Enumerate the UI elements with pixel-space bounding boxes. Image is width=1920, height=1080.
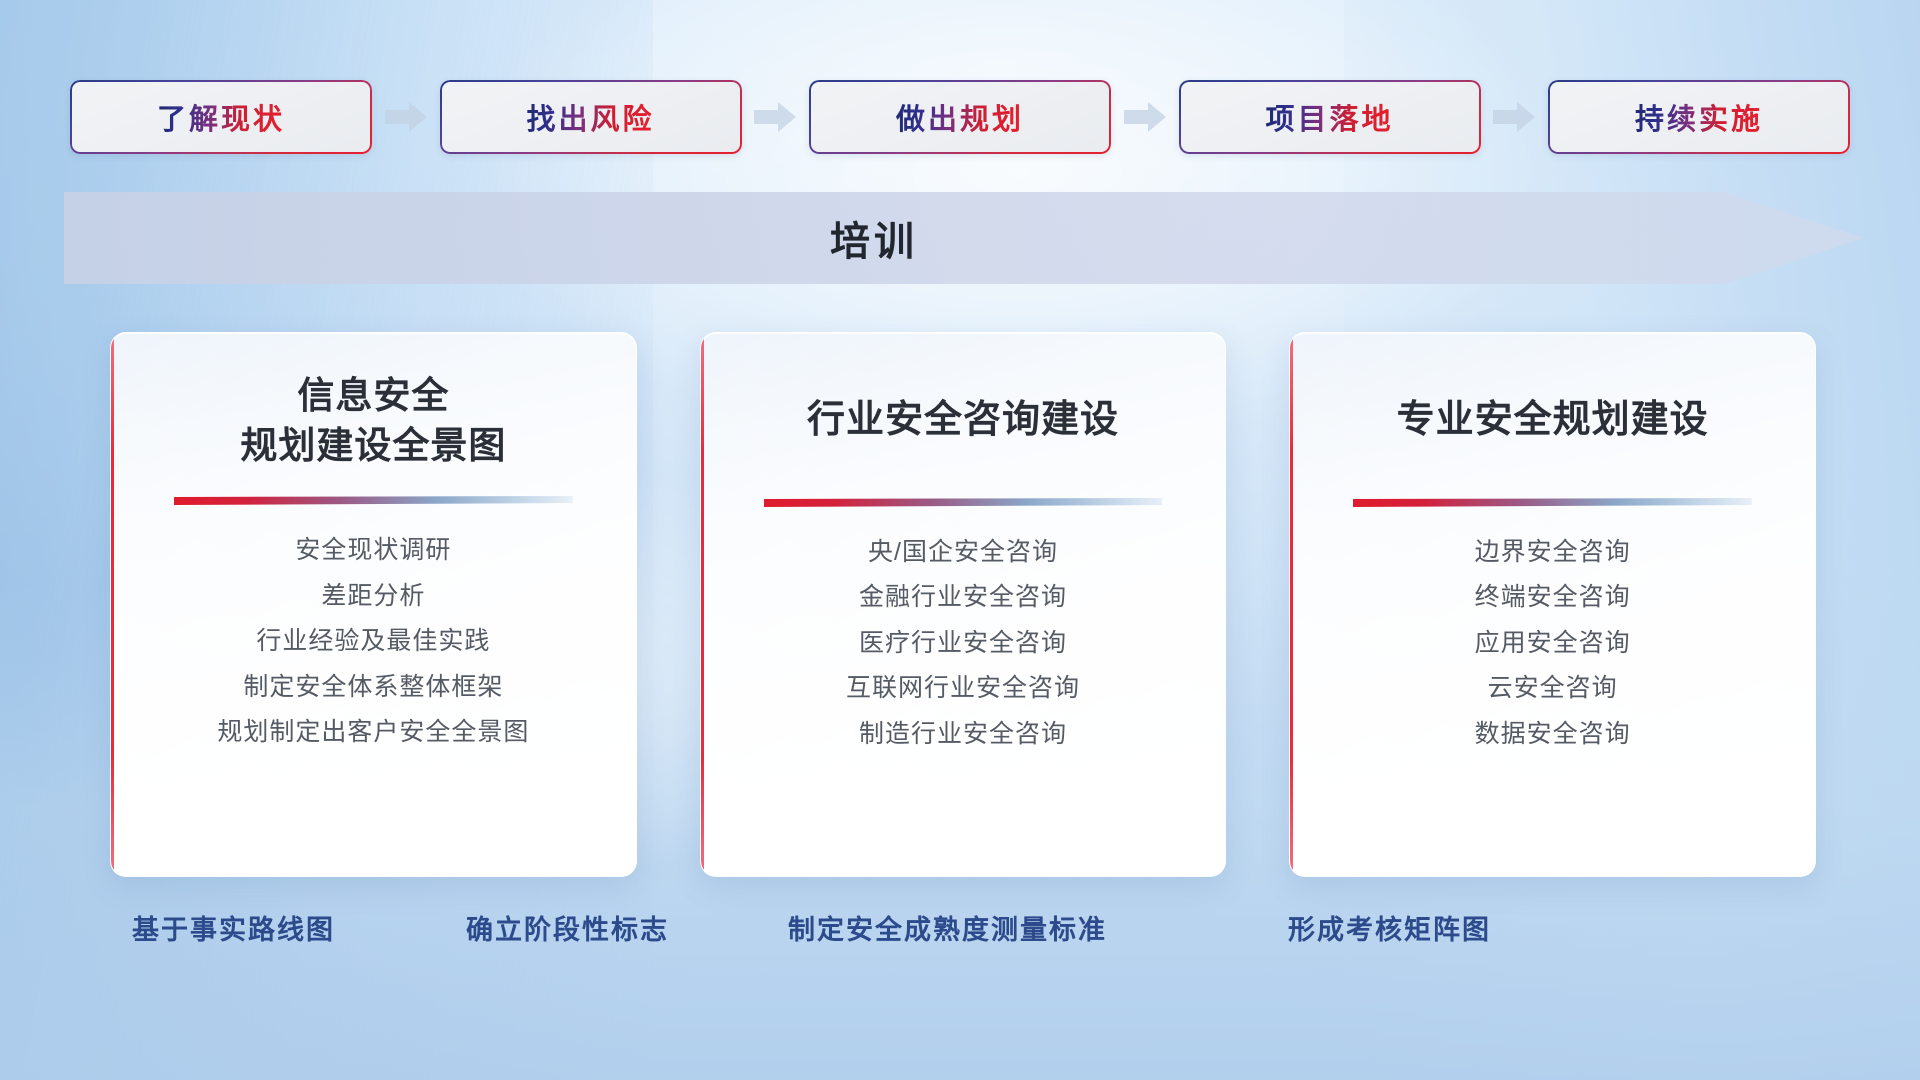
step-label: 项目落地 xyxy=(1265,96,1393,138)
step-label: 持续实施 xyxy=(1635,96,1763,138)
list-item: 央/国企安全咨询 xyxy=(846,537,1080,569)
card-title: 专业安全规划建设 xyxy=(1397,395,1709,446)
list-item: 医疗行业安全咨询 xyxy=(846,628,1080,660)
cards-row: 信息安全 规划建设全景图 安全现状调研 差距分析 行 xyxy=(110,332,1816,877)
bottom-outcome-labels: 基于事实路线图 确立阶段性标志 制定安全成熟度测量标准 形成考核矩阵图 xyxy=(110,908,1850,960)
list-item: 终端安全咨询 xyxy=(1475,582,1631,614)
card-industry-security-consulting[interactable]: 行业安全咨询建设 央/国企安全咨询 金融行业安全咨询 xyxy=(700,332,1227,877)
list-item: 应用安全咨询 xyxy=(1475,628,1631,660)
outcome-label-4: 形成考核矩阵图 xyxy=(1288,908,1491,947)
card-item-list: 安全现状调研 差距分析 行业经验及最佳实践 制定安全体系整体框架 规划制定出客户… xyxy=(217,535,529,749)
process-steps-row: 了解现状 找出风险 做出规划 项目落地 持续实施 xyxy=(70,78,1850,156)
training-banner: 培训 xyxy=(64,192,1864,284)
outcome-label-1: 基于事实路线图 xyxy=(132,908,335,947)
list-item: 安全现状调研 xyxy=(217,535,529,567)
card-item-list: 边界安全咨询 终端安全咨询 应用安全咨询 云安全咨询 数据安全咨询 xyxy=(1475,537,1631,751)
card-title: 信息安全 规划建设全景图 xyxy=(240,371,506,470)
step-label: 了解现状 xyxy=(157,96,285,138)
card-item-list: 央/国企安全咨询 金融行业安全咨询 医疗行业安全咨询 互联网行业安全咨询 制造行… xyxy=(846,537,1080,751)
card-title: 行业安全咨询建设 xyxy=(807,395,1119,446)
list-item: 金融行业安全咨询 xyxy=(846,582,1080,614)
step-label: 找出风险 xyxy=(526,96,654,138)
outcome-label-3: 制定安全成熟度测量标准 xyxy=(788,908,1107,947)
right-arrow-icon xyxy=(384,99,428,135)
list-item: 制定安全体系整体框架 xyxy=(217,672,529,704)
step-label: 做出规划 xyxy=(896,96,1024,138)
right-arrow-icon xyxy=(1492,99,1536,135)
card-professional-security-planning[interactable]: 专业安全规划建设 边界安全咨询 终端安全咨询 应用安 xyxy=(1289,332,1816,877)
list-item: 数据安全咨询 xyxy=(1475,719,1631,751)
card-divider xyxy=(174,496,573,505)
list-item: 边界安全咨询 xyxy=(1475,537,1631,569)
step-box-4[interactable]: 项目落地 xyxy=(1179,80,1481,154)
right-arrow-icon xyxy=(1123,99,1167,135)
step-box-1[interactable]: 了解现状 xyxy=(70,80,372,154)
list-item: 互联网行业安全咨询 xyxy=(846,673,1080,705)
list-item: 制造行业安全咨询 xyxy=(846,719,1080,751)
step-box-2[interactable]: 找出风险 xyxy=(440,80,742,154)
card-information-security-panorama[interactable]: 信息安全 规划建设全景图 安全现状调研 差距分析 行 xyxy=(110,332,637,877)
list-item: 规划制定出客户安全全景图 xyxy=(217,717,529,749)
outcome-label-2: 确立阶段性标志 xyxy=(466,908,669,947)
list-item: 行业经验及最佳实践 xyxy=(217,626,529,658)
card-divider xyxy=(1353,498,1752,507)
card-divider xyxy=(764,498,1163,507)
list-item: 云安全咨询 xyxy=(1475,673,1631,705)
list-item: 差距分析 xyxy=(217,581,529,613)
step-box-3[interactable]: 做出规划 xyxy=(809,80,1111,154)
right-arrow-icon xyxy=(753,99,797,135)
step-box-5[interactable]: 持续实施 xyxy=(1548,80,1850,154)
banner-title: 培训 xyxy=(64,192,1684,284)
